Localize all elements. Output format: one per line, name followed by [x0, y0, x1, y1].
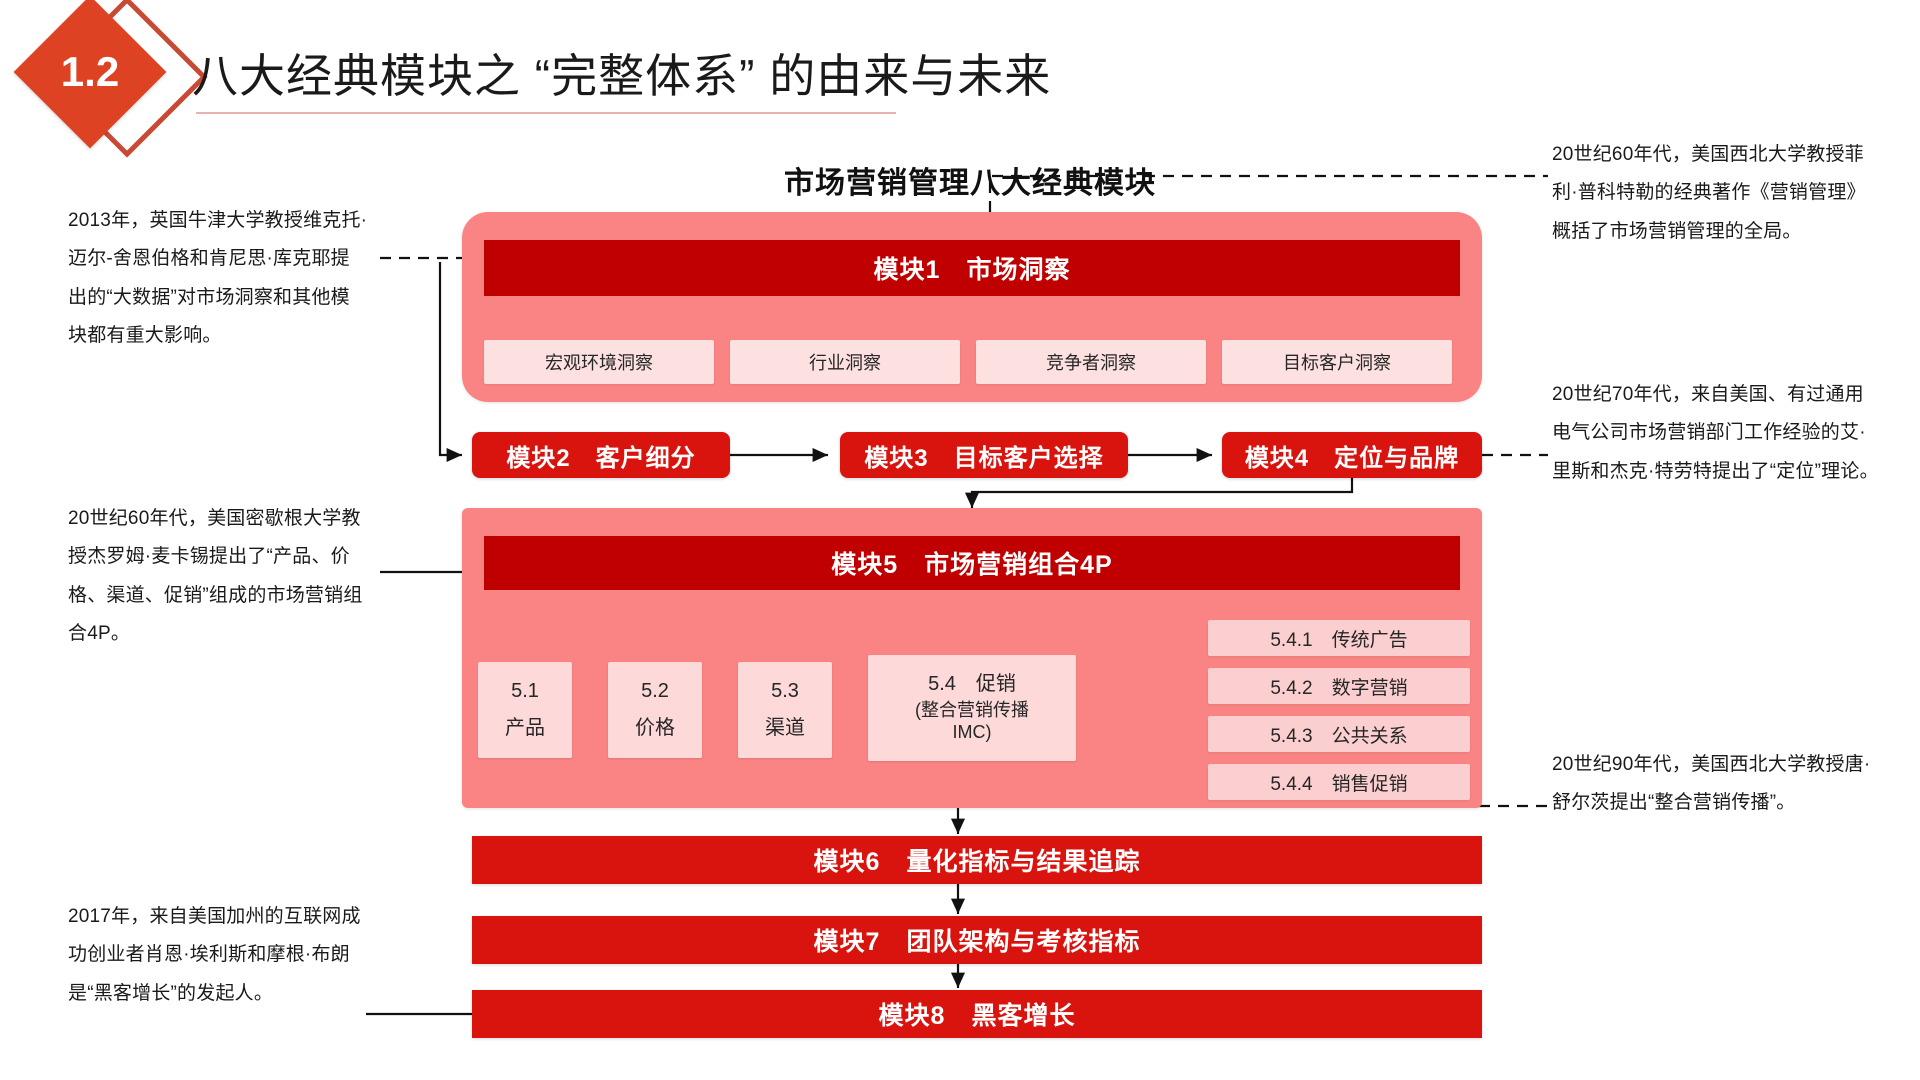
module-6-box[interactable]: 模块6 量化指标与结果追踪: [472, 836, 1482, 884]
module-5-p1-product[interactable]: 5.1 产品: [478, 662, 572, 758]
p4-line3: IMC): [953, 722, 992, 744]
p3-code: 5.3: [771, 680, 799, 703]
module-7-box[interactable]: 模块7 团队架构与考核指标: [472, 916, 1482, 964]
annotation-left-2: 2017年，来自美国加州的互联网成功创业者肖恩·埃利斯和摩根·布朗是“黑客增长”…: [68, 898, 368, 1013]
slide-canvas: 1.2 八大经典模块之 “完整体系” 的由来与未来 市场营销管理八大经典模块: [0, 0, 1920, 1080]
title-underline-divider: [196, 112, 896, 114]
module-3-box[interactable]: 模块3 目标客户选择: [840, 432, 1128, 478]
module-5-p2-price[interactable]: 5.2 价格: [608, 662, 702, 758]
module-2-box[interactable]: 模块2 客户细分: [472, 432, 730, 478]
annotation-right-2: 20世纪90年代，美国西北大学教授唐·舒尔茨提出“整合营销传播”。: [1552, 746, 1872, 823]
p1-code: 5.1: [511, 680, 539, 703]
p4-line2: (整合营销传播: [915, 700, 1029, 722]
module-5-p4-promotion[interactable]: 5.4 促销 (整合营销传播 IMC): [868, 655, 1076, 761]
section-badge: 1.2: [18, 2, 188, 152]
module-1-group: 模块1 市场洞察 宏观环境洞察 行业洞察 竞争者洞察 目标客户洞察: [462, 212, 1482, 402]
module-8-box[interactable]: 模块8 黑客增长: [472, 990, 1482, 1038]
module-1-child-3[interactable]: 目标客户洞察: [1222, 340, 1452, 384]
p3-name: 渠道: [765, 711, 805, 740]
annotation-right-1: 20世纪70年代，来自美国、有过通用电气公司市场营销部门工作经验的艾·里斯和杰克…: [1552, 376, 1882, 491]
page-title: 八大经典模块之 “完整体系” 的由来与未来: [192, 40, 1051, 106]
module-5-promo-child-1[interactable]: 5.4.2 数字营销: [1208, 668, 1470, 704]
module-5-promo-child-0[interactable]: 5.4.1 传统广告: [1208, 620, 1470, 656]
p2-code: 5.2: [641, 680, 669, 703]
p1-name: 产品: [505, 711, 545, 740]
module-1-header[interactable]: 模块1 市场洞察: [484, 240, 1460, 296]
diagram-title: 市场营销管理八大经典模块: [440, 158, 1500, 202]
module-1-child-2[interactable]: 竞争者洞察: [976, 340, 1206, 384]
module-1-child-1[interactable]: 行业洞察: [730, 340, 960, 384]
p4-code: 5.4 促销: [928, 672, 1016, 696]
module-5-promo-child-2[interactable]: 5.4.3 公共关系: [1208, 716, 1470, 752]
annotation-left-0: 2013年，英国牛津大学教授维克托·迈尔-舍恩伯格和肯尼思·库克耶提出的“大数据…: [68, 202, 368, 356]
annotation-left-1: 20世纪60年代，美国密歇根大学教授杰罗姆·麦卡锡提出了“产品、价格、渠道、促销…: [68, 500, 378, 654]
module-5-p3-channel[interactable]: 5.3 渠道: [738, 662, 832, 758]
badge-number: 1.2: [36, 18, 144, 126]
annotation-right-0: 20世纪60年代，美国西北大学教授菲利·普科特勒的经典著作《营销管理》概括了市场…: [1552, 136, 1872, 251]
module-1-child-0[interactable]: 宏观环境洞察: [484, 340, 714, 384]
p2-name: 价格: [635, 711, 675, 740]
module-5-header[interactable]: 模块5 市场营销组合4P: [484, 536, 1460, 590]
module-4-box[interactable]: 模块4 定位与品牌: [1222, 432, 1482, 478]
module-5-promo-child-3[interactable]: 5.4.4 销售促销: [1208, 764, 1470, 800]
